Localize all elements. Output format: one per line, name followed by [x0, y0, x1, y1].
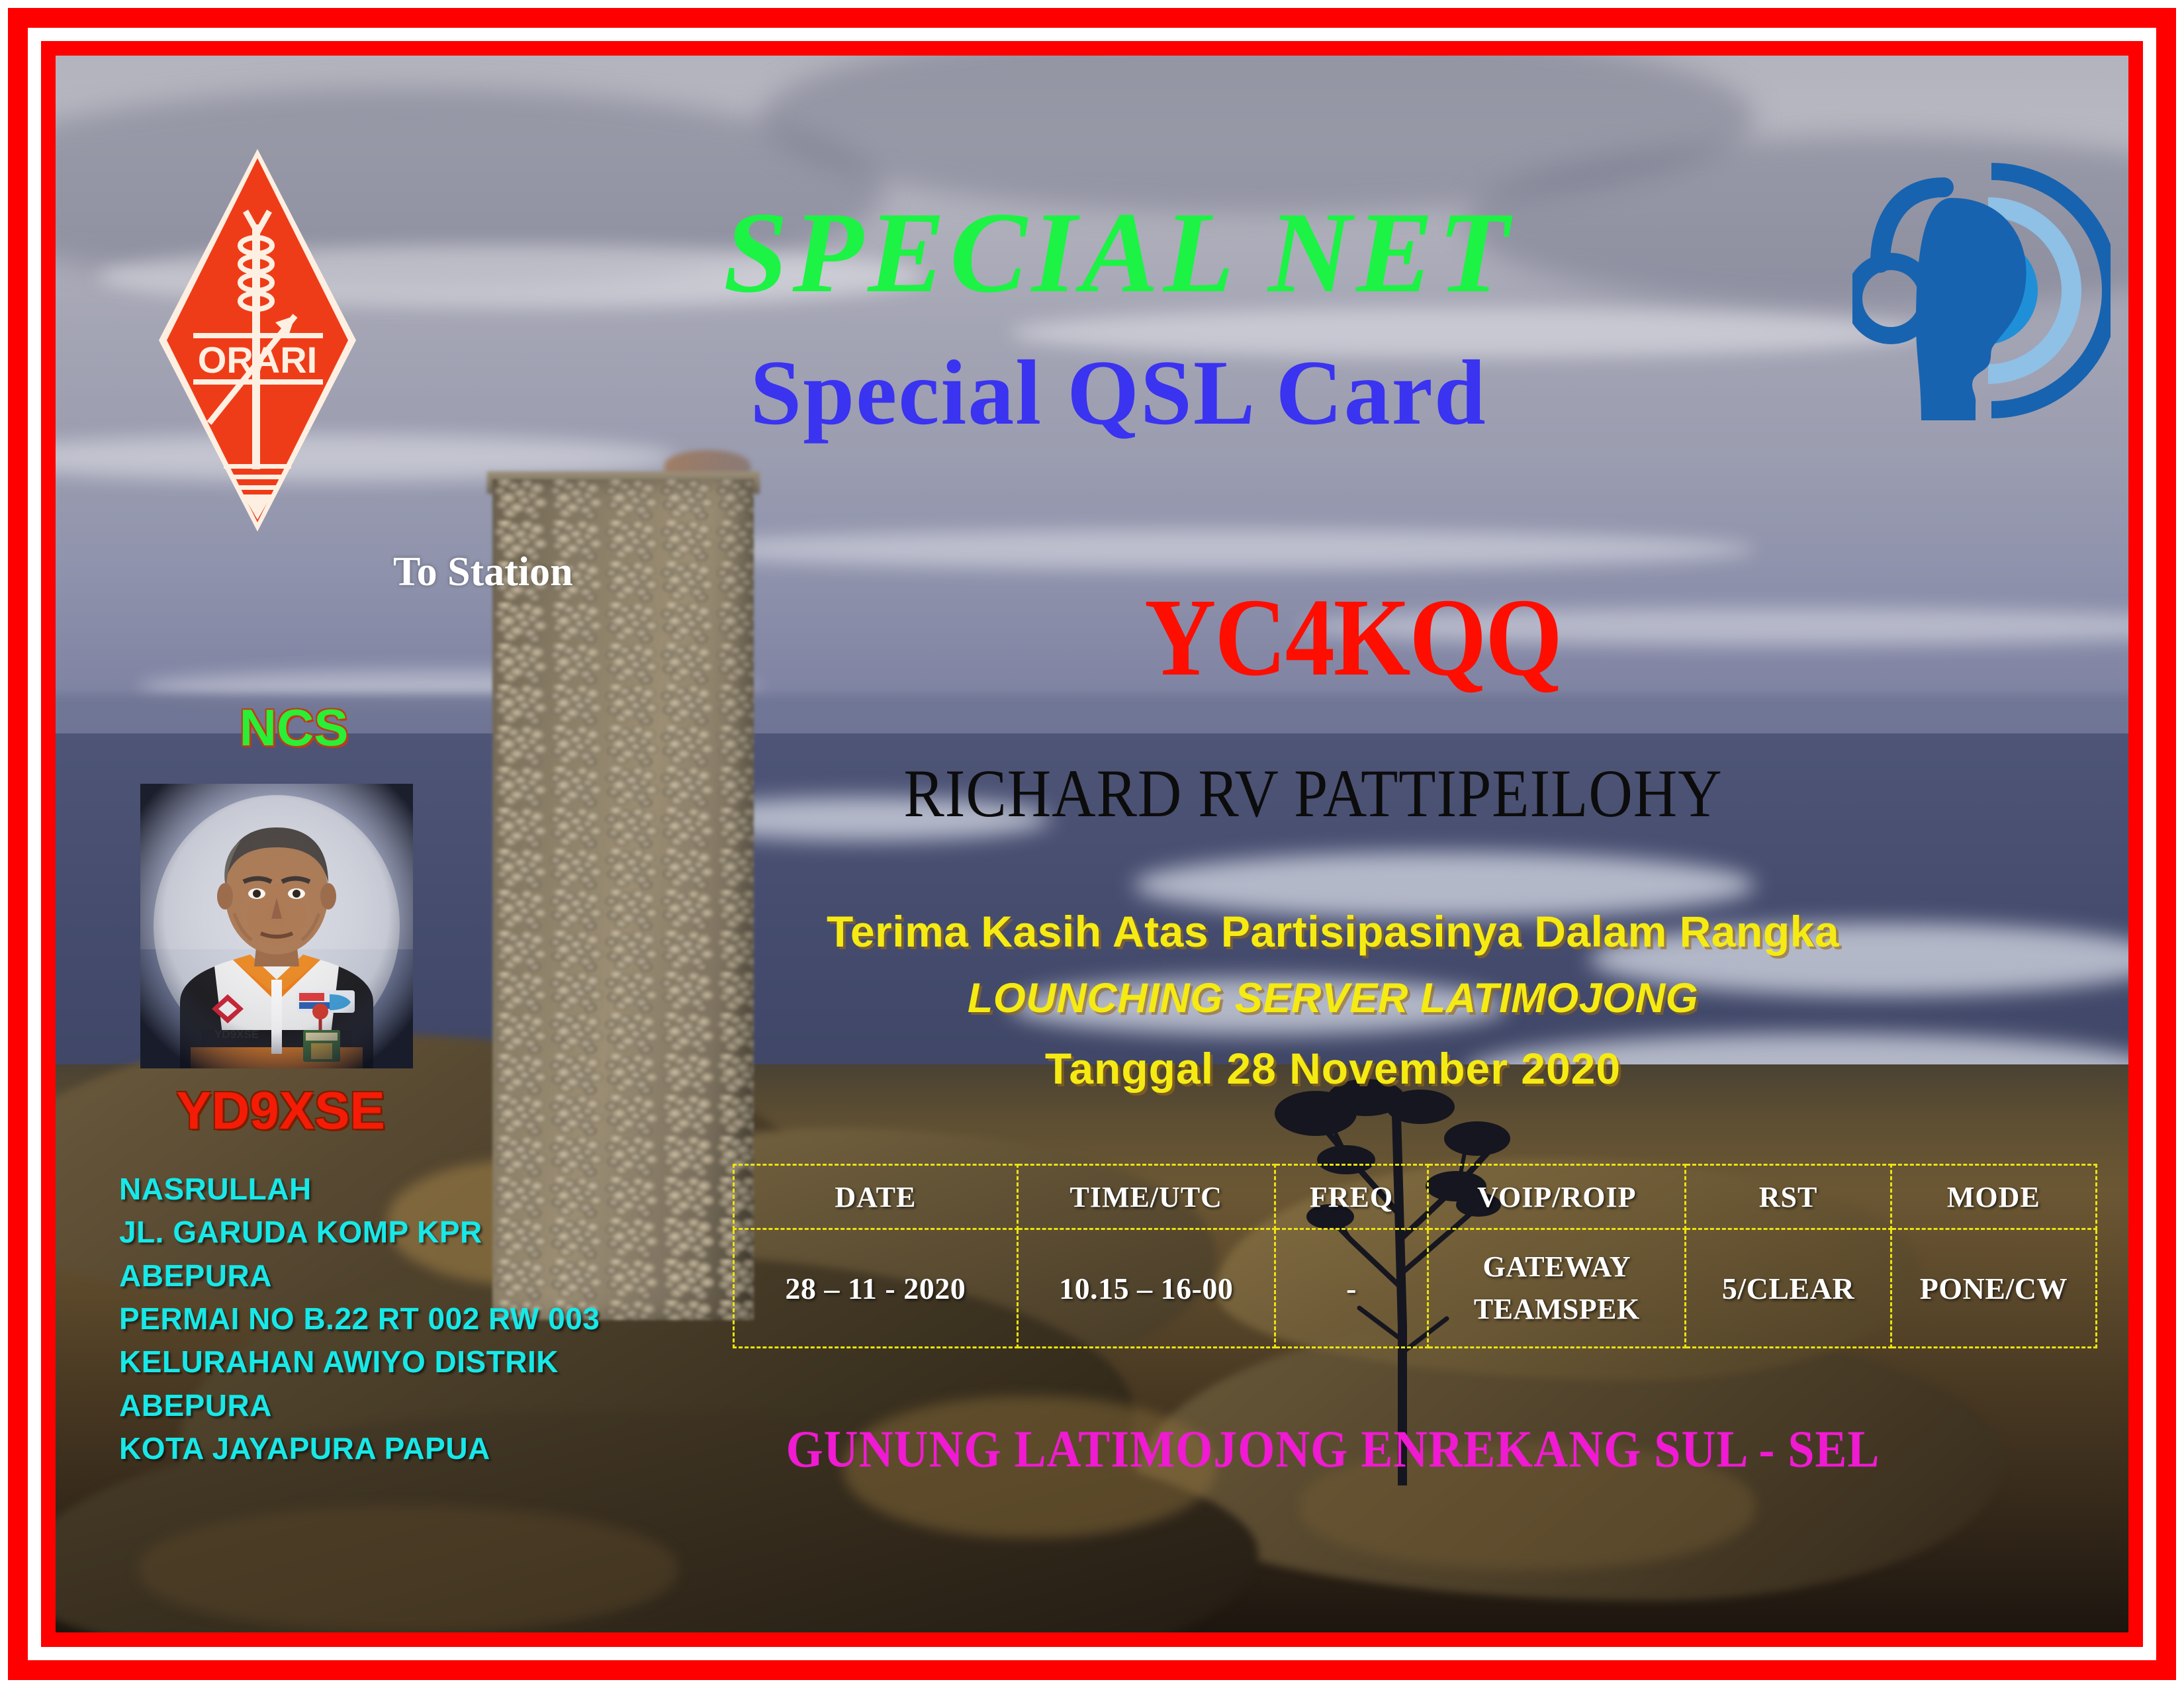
- cell-voip-roip-line1: GATEWAY: [1433, 1246, 1680, 1288]
- ncs-operator-photo: YD9XSE: [140, 784, 413, 1068]
- col-header-voip-roip: VOIP/ROIP: [1428, 1165, 1686, 1229]
- cell-voip-roip: GATEWAY TEAMSPEK: [1428, 1229, 1686, 1348]
- to-station-label: To Station: [393, 549, 573, 596]
- address-line: PERMAI NO B.22 RT 002 RW 003: [119, 1297, 600, 1340]
- ground-texture: [138, 1506, 677, 1632]
- thanks-line-1: Terima Kasih Atas Partisipasinya Dalam R…: [724, 906, 1942, 957]
- sender-address-block: NASRULLAH JL. GARUDA KOMP KPR ABEPURA PE…: [119, 1168, 600, 1470]
- address-line: ABEPURA: [119, 1384, 600, 1427]
- card-inner-border: ORARI SPECIAL NET Speci: [41, 41, 2143, 1647]
- address-line: KOTA JAYAPURA PAPUA: [119, 1427, 600, 1470]
- col-header-mode: MODE: [1891, 1165, 2096, 1229]
- location-line: GUNUNG LATIMOJONG ENREKANG SUL - SEL: [704, 1419, 1962, 1479]
- cell-rst: 5/CLEAR: [1686, 1229, 1891, 1348]
- page-title-special-net: SPECIAL NET: [56, 195, 2128, 310]
- address-line: NASRULLAH: [119, 1168, 600, 1211]
- qsl-card: ORARI SPECIAL NET Speci: [0, 0, 2184, 1688]
- cell-date: 28 – 11 - 2020: [734, 1229, 1018, 1348]
- col-header-freq: FREQ: [1275, 1165, 1428, 1229]
- qso-log-table: DATE TIME/UTC FREQ VOIP/ROIP RST MODE 28…: [733, 1164, 2097, 1348]
- ncs-operator-callsign: YD9XSE: [135, 1080, 426, 1141]
- table-header-row: DATE TIME/UTC FREQ VOIP/ROIP RST MODE: [734, 1165, 2097, 1229]
- cell-mode: PONE/CW: [1891, 1229, 2096, 1348]
- thanks-line-2-event: LOUNCHING SERVER LATIMOJONG: [724, 974, 1942, 1022]
- cell-time: 10.15 – 16-00: [1017, 1229, 1275, 1348]
- thanks-line-3-date: Tanggal 28 November 2020: [724, 1043, 1942, 1094]
- table-row: 28 – 11 - 2020 10.15 – 16-00 - GATEWAY T…: [734, 1229, 2097, 1348]
- recipient-callsign: YC4KQQ: [837, 582, 1869, 693]
- cell-voip-roip-line2: TEAMSPEK: [1433, 1288, 1680, 1331]
- address-line: JL. GARUDA KOMP KPR: [119, 1211, 600, 1254]
- col-header-time: TIME/UTC: [1017, 1165, 1275, 1229]
- ncs-label: NCS: [155, 698, 433, 758]
- page-subtitle-special-qsl-card: Special QSL Card: [56, 347, 2128, 440]
- col-header-date: DATE: [734, 1165, 1018, 1229]
- address-line: ABEPURA: [119, 1254, 600, 1297]
- col-header-rst: RST: [1686, 1165, 1891, 1229]
- recipient-operator-name: RICHARD RV PATTIPEILOHY: [724, 754, 1902, 833]
- footer-web-address: Address : amatir.latimojong.com: [1313, 1630, 2009, 1647]
- cell-freq: -: [1275, 1229, 1428, 1348]
- footer-motto: "AMATIR RADIO ADALAH PROGRESIVE": [134, 1630, 1132, 1647]
- address-line: KELURAHAN AWIYO DISTRIK: [119, 1340, 600, 1383]
